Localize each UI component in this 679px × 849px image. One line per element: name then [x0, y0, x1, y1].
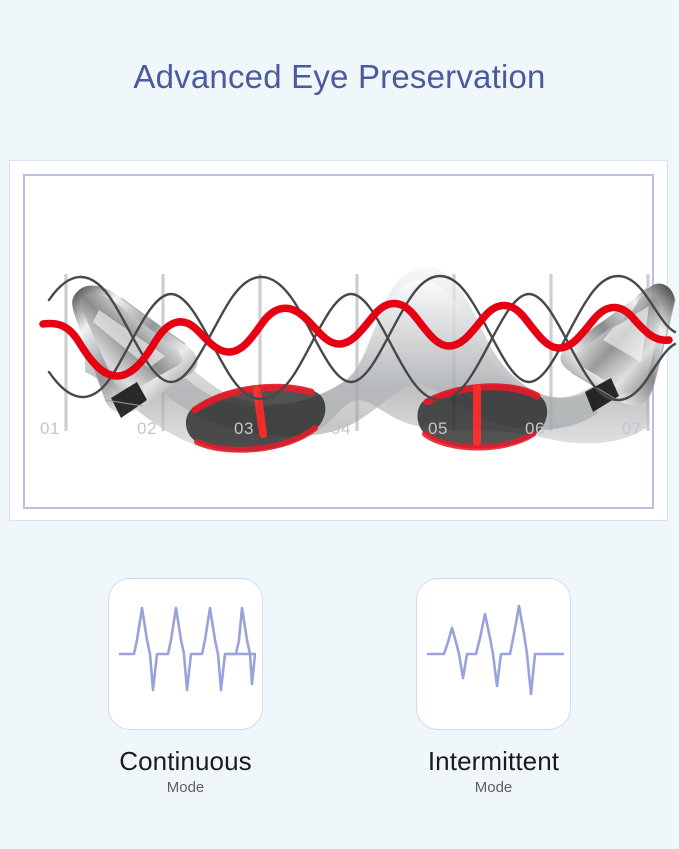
- hero-panel-inner-frame: [23, 174, 654, 509]
- mode-name-continuous: Continuous: [119, 746, 252, 777]
- mode-card-intermittent[interactable]: [416, 578, 571, 730]
- intermittent-waveform-icon: [424, 594, 564, 714]
- axis-tick-label-01: 01: [40, 419, 60, 439]
- mode-subtitle-intermittent: Mode: [475, 779, 513, 796]
- waveform-illustration: [25, 176, 679, 537]
- mode-card-continuous[interactable]: [108, 578, 263, 730]
- axis-tick-label-07: 07: [622, 419, 642, 439]
- axis-tick-label-05: 05: [428, 419, 448, 439]
- modes-row: Continuous Mode Intermittent Mode: [0, 578, 679, 796]
- mode-item-continuous[interactable]: Continuous Mode: [108, 578, 263, 796]
- axis-tick-label-02: 02: [137, 419, 157, 439]
- hero-panel-outer-frame: [9, 160, 668, 521]
- axis-tick-label-06: 06: [525, 419, 545, 439]
- mode-item-intermittent[interactable]: Intermittent Mode: [416, 578, 571, 796]
- axis-tick-label-04: 04: [331, 419, 351, 439]
- mode-name-intermittent: Intermittent: [428, 746, 559, 777]
- page-title: Advanced Eye Preservation: [0, 58, 679, 96]
- mode-subtitle-continuous: Mode: [167, 779, 205, 796]
- product-right: [561, 284, 676, 412]
- axis-tick-label-03: 03: [234, 419, 254, 439]
- continuous-waveform-icon: [116, 594, 256, 714]
- hero-illustration-stage: [25, 176, 679, 537]
